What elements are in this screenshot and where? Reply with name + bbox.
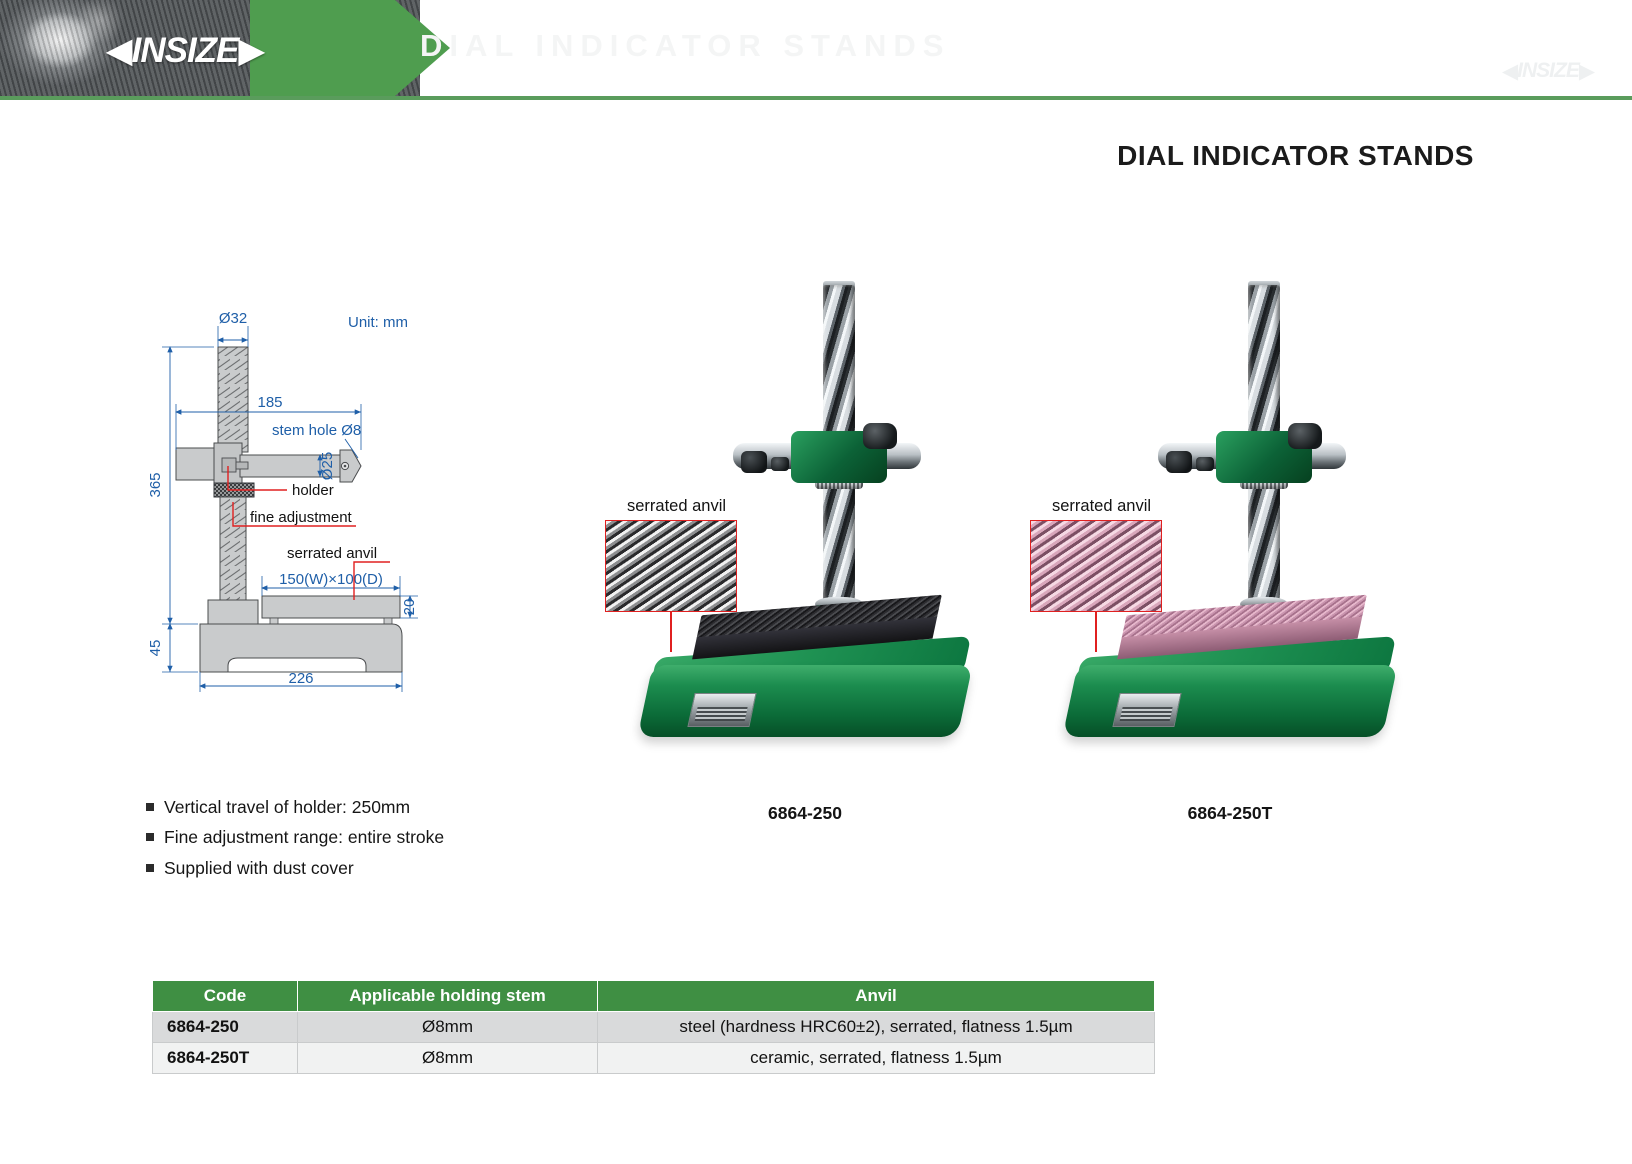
dim-arm-length: 185 [257,394,282,411]
dim-total-height: 365 [147,472,164,497]
product-model-label: 6864-250T [1020,803,1440,824]
arm-screw [1166,451,1192,473]
callout-fine-adjustment: fine adjustment [250,509,353,526]
arm-screw-secondary [771,457,789,471]
square-bullet-icon [146,803,154,811]
cell-stem: Ø8mm [298,1043,598,1074]
column-header-code: Code [153,981,298,1012]
insize-logo-watermark: ◀ INSIZE ▶ [1468,58,1628,84]
table-header-row: Code Applicable holding stem Anvil [153,981,1155,1012]
column-header-stem: Applicable holding stem [298,981,598,1012]
feature-text: Vertical travel of holder: 250mm [164,795,410,820]
specification-table: Code Applicable holding stem Anvil 6864-… [152,980,1155,1074]
page-title: DIAL INDICATOR STANDS [1117,140,1474,172]
product-photo: serrated anvil [595,275,1015,755]
feature-text: Fine adjustment range: entire stroke [164,825,444,850]
list-item: Supplied with dust cover [146,856,666,881]
callout-serrated-anvil: serrated anvil [287,545,377,562]
callout-label: serrated anvil [1052,497,1151,516]
cell-anvil: ceramic, serrated, flatness 1.5µm [598,1043,1155,1074]
watermark-arrow-right-icon: ▶ [1579,59,1594,84]
list-item: Vertical travel of holder: 250mm [146,795,666,820]
product-model-label: 6864-250 [595,803,1015,824]
cell-anvil: steel (hardness HRC60±2), serrated, flat… [598,1012,1155,1043]
dim-anvil-thickness: 20 [401,599,418,616]
feature-text: Supplied with dust cover [164,856,354,881]
product-figure-6864-250: serrated anvil 6864-250 [595,275,1015,835]
column-header-anvil: Anvil [598,981,1155,1012]
table-row: 6864-250T Ø8mm ceramic, serrated, flatne… [153,1043,1155,1074]
page-header: DIAL INDICATOR STANDS ◀ INSIZE ▶ ◀ INSIZ… [0,0,1632,100]
cell-stem: Ø8mm [298,1012,598,1043]
header-divider [0,96,1632,100]
square-bullet-icon [146,864,154,872]
serrated-anvil-detail-crop [1030,520,1162,612]
list-item: Fine adjustment range: entire stroke [146,825,666,850]
technical-drawing: Ø32 185 stem hole Ø8 Ø25 365 45 226 150(… [140,300,580,700]
clamp-knob [863,423,897,449]
callout-holder: holder [292,482,334,499]
logo-wordmark: INSIZE [132,31,239,71]
logo-arrow-right-icon: ▶ [238,31,264,71]
dim-diameter-top: Ø32 [219,310,247,327]
dim-base-height: 45 [147,640,164,657]
dim-anvil-size: 150(W)×100(D) [279,571,383,588]
serrated-anvil-detail-crop [605,520,737,612]
dim-stem-diameter: Ø25 [319,452,336,480]
clamp-knob [1288,423,1322,449]
dim-base-width: 226 [288,670,313,687]
base-nameplate [687,693,756,727]
square-bullet-icon [146,833,154,841]
header-faint-watermark-text: DIAL INDICATOR STANDS [420,28,1420,72]
features-list: Vertical travel of holder: 250mm Fine ad… [146,795,666,886]
cell-code: 6864-250 [153,1012,298,1043]
arm-screw [741,451,767,473]
unit-note: Unit: mm [348,314,408,331]
callout-label: serrated anvil [627,497,726,516]
base-nameplate [1112,693,1181,727]
watermark-wordmark: INSIZE [1517,59,1579,83]
product-figure-6864-250T: serrated anvil 6864-250T [1020,275,1440,835]
callout-leader-line [1095,612,1097,652]
dim-stem-hole: stem hole Ø8 [272,422,361,439]
logo-arrow-left-icon: ◀ [106,31,132,71]
cell-code: 6864-250T [153,1043,298,1074]
product-photo: serrated anvil [1020,275,1440,755]
table-row: 6864-250 Ø8mm steel (hardness HRC60±2), … [153,1012,1155,1043]
arm-screw-secondary [1196,457,1214,471]
watermark-arrow-left-icon: ◀ [1502,59,1517,84]
insize-logo: ◀ INSIZE ▶ [90,30,280,72]
callout-leader-line [670,612,672,652]
